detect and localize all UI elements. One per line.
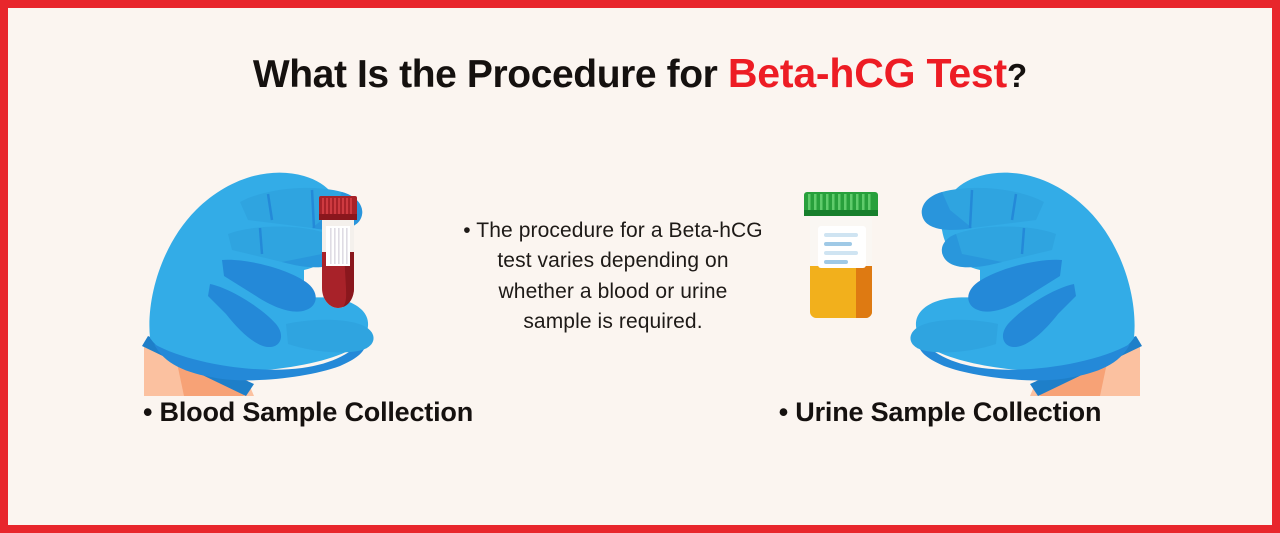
cup-label	[818, 226, 866, 268]
tube-label	[326, 226, 350, 266]
page-title-lead: What Is the Procedure for	[253, 53, 728, 96]
gloved-hand-holding-blood-tube-icon	[136, 148, 496, 398]
panel-blood-sample	[136, 148, 496, 398]
blood-sample-illustration	[136, 148, 496, 398]
gloved-hand-holding-urine-cup-icon	[788, 148, 1148, 398]
page-title-highlight: Beta-hCG Test	[728, 50, 1007, 96]
page-title: What Is the Procedure for Beta-hCG Test?	[8, 50, 1272, 97]
center-note-text: • The procedure for a Beta-hCG test vari…	[463, 216, 763, 338]
caption-blood-sample: • Blood Sample Collection	[128, 393, 488, 431]
urine-sample-cup	[804, 192, 878, 318]
infographic-canvas: What Is the Procedure for Beta-hCG Test?	[0, 0, 1280, 533]
page-title-tail: ?	[1007, 57, 1027, 94]
urine-sample-illustration	[788, 148, 1148, 398]
cup-lid	[804, 192, 878, 216]
panel-urine-sample	[788, 148, 1148, 398]
caption-urine-sample: • Urine Sample Collection	[760, 393, 1120, 431]
